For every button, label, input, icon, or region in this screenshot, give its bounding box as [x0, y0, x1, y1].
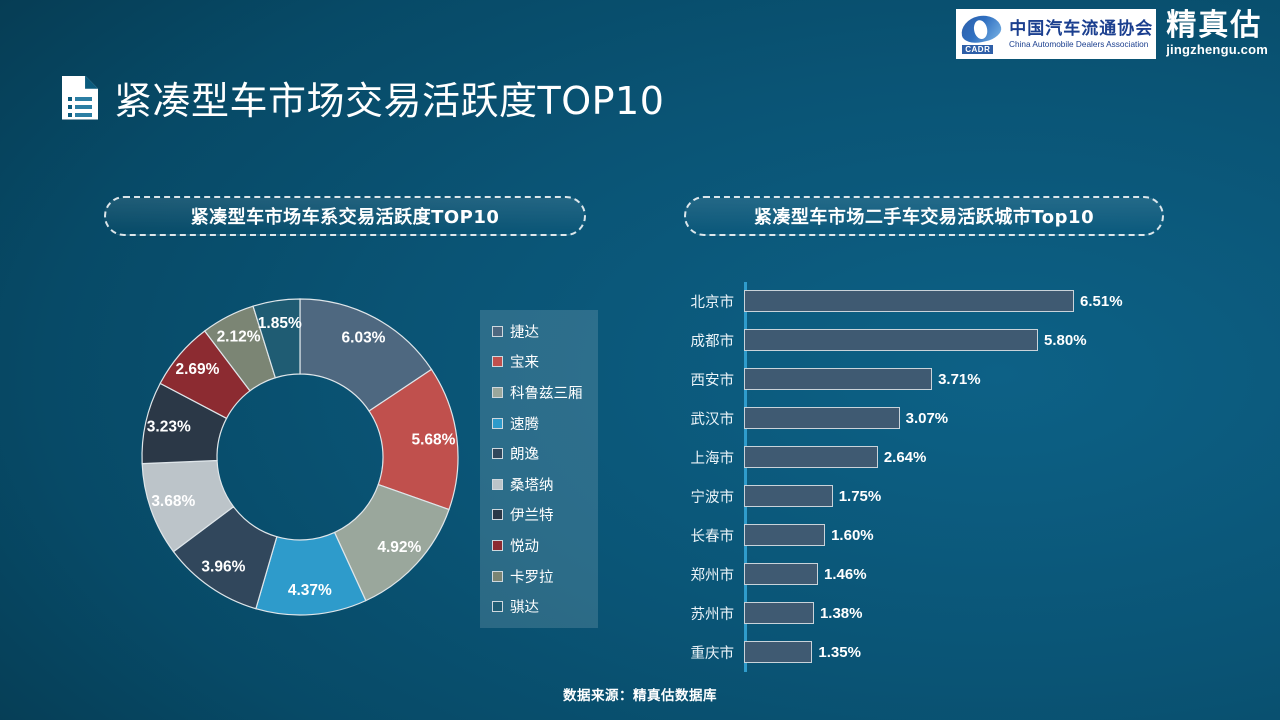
bar-category-label: 成都市 [672, 330, 744, 351]
legend-item[interactable]: 悦动 [492, 532, 598, 558]
legend-item-label: 科鲁兹三厢 [510, 382, 583, 403]
cada-logo-cn: 中国汽车流通协会 [1009, 20, 1153, 37]
legend-item-label: 悦动 [510, 535, 539, 556]
bar-value-label: 3.07% [906, 410, 949, 427]
bar-category-label: 武汉市 [672, 408, 744, 429]
bar-chart-row: 武汉市3.07% [672, 407, 1172, 429]
donut-slice-value: 3.96% [201, 559, 245, 576]
cada-logo-text: 中国汽车流通协会 China Automobile Dealers Associ… [1009, 20, 1153, 49]
bar-category-label: 长春市 [672, 525, 744, 546]
bar-fill[interactable] [744, 368, 932, 390]
bar-fill[interactable] [744, 563, 818, 585]
jingzhengu-logo: 精真估 jingzhengu.com [1166, 11, 1268, 58]
bar-category-label: 西安市 [672, 369, 744, 390]
bar-category-label: 北京市 [672, 291, 744, 312]
legend-swatch-icon [492, 601, 503, 612]
bar-value-label: 1.35% [818, 644, 861, 661]
legend-item[interactable]: 卡罗拉 [492, 563, 598, 589]
legend-item[interactable]: 朗逸 [492, 441, 598, 467]
cada-logo-en: China Automobile Dealers Association [1009, 40, 1149, 49]
legend-swatch-icon [492, 571, 503, 582]
legend-item-label: 宝来 [510, 351, 539, 372]
legend-item[interactable]: 桑塔纳 [492, 471, 598, 497]
legend-item[interactable]: 伊兰特 [492, 502, 598, 528]
donut-slice-value: 6.03% [342, 330, 386, 347]
bar-category-label: 重庆市 [672, 642, 744, 663]
bar-track: 5.80% [744, 329, 1172, 351]
donut-chart-legend: 捷达宝来科鲁兹三厢速腾朗逸桑塔纳伊兰特悦动卡罗拉骐达 [480, 310, 598, 628]
legend-item-label: 捷达 [510, 321, 539, 342]
donut-slice-value: 1.85% [258, 315, 302, 332]
legend-item[interactable]: 速腾 [492, 410, 598, 436]
legend-item-label: 伊兰特 [510, 504, 554, 525]
bar-chart-row: 西安市3.71% [672, 368, 1172, 390]
bar-track: 1.35% [744, 641, 1172, 663]
donut-chart-svg: 6.03%5.68%4.92%4.37%3.96%3.68%3.23%2.69%… [135, 292, 465, 622]
cada-emblem-icon: CADR [959, 14, 1003, 54]
bar-chart-row: 成都市5.80% [672, 329, 1172, 351]
right-panel-header: 紧凑型车市场二手车交易活跃城市Top10 [684, 196, 1164, 236]
bar-fill[interactable] [744, 524, 825, 546]
bar-track: 2.64% [744, 446, 1172, 468]
page-title: 紧凑型车市场交易活跃度TOP10 [114, 70, 664, 125]
donut-chart: 6.03%5.68%4.92%4.37%3.96%3.68%3.23%2.69%… [135, 292, 465, 622]
legend-item[interactable]: 科鲁兹三厢 [492, 379, 598, 405]
legend-item[interactable]: 骐达 [492, 594, 598, 620]
cada-mark-text: CADR [962, 45, 993, 54]
cada-logo: CADR 中国汽车流通协会 China Automobile Dealers A… [956, 9, 1156, 59]
bar-chart-row: 宁波市1.75% [672, 485, 1172, 507]
bar-category-label: 上海市 [672, 447, 744, 468]
bar-chart-row: 长春市1.60% [672, 524, 1172, 546]
document-list-icon [62, 76, 98, 120]
bar-chart-row: 上海市2.64% [672, 446, 1172, 468]
bar-track: 1.38% [744, 602, 1172, 624]
bar-track: 1.60% [744, 524, 1172, 546]
bar-track: 3.07% [744, 407, 1172, 429]
city-bar-chart: 北京市6.51%成都市5.80%西安市3.71%武汉市3.07%上海市2.64%… [672, 282, 1172, 672]
bar-value-label: 1.60% [831, 527, 874, 544]
legend-swatch-icon [492, 326, 503, 337]
bar-category-label: 苏州市 [672, 603, 744, 624]
bar-chart-row: 北京市6.51% [672, 290, 1172, 312]
page-title-row: 紧凑型车市场交易活跃度TOP10 [62, 70, 664, 125]
bar-fill[interactable] [744, 446, 878, 468]
legend-swatch-icon [492, 479, 503, 490]
donut-slice-value: 4.37% [288, 582, 332, 599]
legend-item-label: 卡罗拉 [510, 566, 554, 587]
data-source-note: 数据来源：精真估数据库 [0, 684, 1280, 704]
bar-value-label: 2.64% [884, 449, 927, 466]
jingzhengu-logo-domain: jingzhengu.com [1166, 43, 1268, 56]
bar-fill[interactable] [744, 329, 1038, 351]
legend-swatch-icon [492, 356, 503, 367]
legend-swatch-icon [492, 509, 503, 520]
donut-slice-value: 3.68% [151, 493, 195, 510]
header-logos: CADR 中国汽车流通协会 China Automobile Dealers A… [956, 5, 1268, 63]
bar-chart-row: 苏州市1.38% [672, 602, 1172, 624]
bar-fill[interactable] [744, 290, 1074, 312]
legend-item[interactable]: 宝来 [492, 349, 598, 375]
bar-fill[interactable] [744, 602, 814, 624]
donut-slice-value: 2.12% [217, 328, 261, 345]
bar-category-label: 宁波市 [672, 486, 744, 507]
bar-track: 6.51% [744, 290, 1172, 312]
bar-value-label: 1.46% [824, 566, 867, 583]
bar-value-label: 1.75% [839, 488, 882, 505]
bar-value-label: 3.71% [938, 371, 981, 388]
right-panel-header-label: 紧凑型车市场二手车交易活跃城市Top10 [754, 203, 1094, 229]
donut-slice-value: 3.23% [147, 419, 191, 436]
bar-value-label: 1.38% [820, 605, 863, 622]
legend-swatch-icon [492, 387, 503, 398]
left-panel-header: 紧凑型车市场车系交易活跃度TOP10 [104, 196, 586, 236]
bar-chart-row: 郑州市1.46% [672, 563, 1172, 585]
legend-swatch-icon [492, 418, 503, 429]
legend-swatch-icon [492, 540, 503, 551]
legend-item-label: 骐达 [510, 596, 539, 617]
bar-value-label: 5.80% [1044, 332, 1087, 349]
bar-category-label: 郑州市 [672, 564, 744, 585]
bar-value-label: 6.51% [1080, 293, 1123, 310]
donut-slice-value: 5.68% [411, 431, 455, 448]
donut-slice-value: 4.92% [377, 539, 421, 556]
legend-item-label: 朗逸 [510, 443, 539, 464]
bar-track: 3.71% [744, 368, 1172, 390]
left-panel-header-label: 紧凑型车市场车系交易活跃度TOP10 [191, 203, 500, 229]
bar-chart-row: 重庆市1.35% [672, 641, 1172, 663]
legend-item-label: 桑塔纳 [510, 474, 554, 495]
legend-item-label: 速腾 [510, 413, 539, 434]
legend-swatch-icon [492, 448, 503, 459]
bar-fill[interactable] [744, 641, 812, 663]
bar-fill[interactable] [744, 407, 900, 429]
bar-fill[interactable] [744, 485, 833, 507]
bar-track: 1.46% [744, 563, 1172, 585]
donut-slice-value: 2.69% [176, 361, 220, 378]
jingzhengu-logo-cn: 精真估 [1166, 11, 1268, 41]
legend-item[interactable]: 捷达 [492, 318, 598, 344]
slide-canvas: CADR 中国汽车流通协会 China Automobile Dealers A… [0, 0, 1280, 720]
bar-track: 1.75% [744, 485, 1172, 507]
